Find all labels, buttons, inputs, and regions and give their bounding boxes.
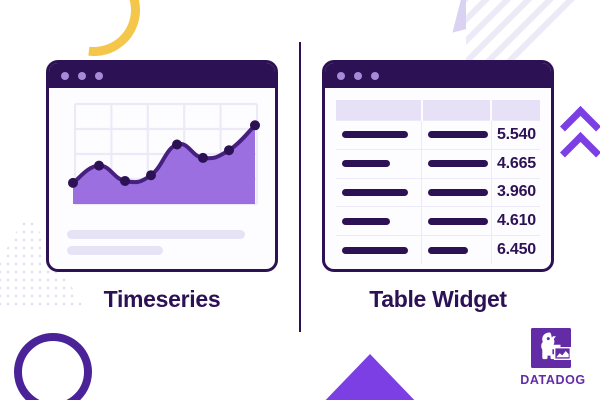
table-cell-value: 6.450	[491, 236, 540, 264]
timeseries-widget-window	[46, 60, 278, 272]
center-divider	[299, 42, 301, 332]
table-row[interactable]: 3.960	[336, 178, 540, 207]
table-body: 5.5404.6653.9604.6106.450	[336, 121, 540, 265]
chart-data-point	[94, 161, 104, 171]
table-cell-value: 4.610	[491, 207, 540, 236]
illustration-canvas: 5.5404.6653.9604.6106.450 Timeseries Tab…	[0, 0, 600, 400]
window-dot-icon	[371, 72, 379, 80]
placeholder-pill	[342, 218, 390, 225]
table-cell-value: 5.540	[491, 121, 540, 150]
placeholder-pill	[428, 131, 488, 138]
chart-data-point	[120, 176, 130, 186]
table-cell-value: 3.960	[491, 178, 540, 207]
window-dot-icon	[78, 72, 86, 80]
timeseries-chart-svg	[67, 100, 263, 218]
data-table: 5.5404.6653.9604.6106.450	[336, 100, 540, 264]
window-dot-icon	[354, 72, 362, 80]
chevron-up-icon	[560, 132, 600, 173]
table-widget-window: 5.5404.6653.9604.6106.450	[322, 60, 554, 272]
skeleton-bar	[67, 246, 163, 255]
chevron-group-decoration	[566, 112, 600, 192]
chart-data-point	[250, 120, 260, 130]
table-cell-label	[336, 207, 422, 236]
table-cell-label	[336, 121, 422, 150]
placeholder-pill	[342, 247, 408, 254]
window-dot-icon	[95, 72, 103, 80]
table-area: 5.5404.6653.9604.6106.450	[336, 100, 540, 264]
table-row[interactable]: 4.610	[336, 207, 540, 236]
datadog-logo: DATADOG	[520, 327, 586, 389]
table-row[interactable]: 6.450	[336, 236, 540, 264]
chart-data-point	[68, 178, 78, 188]
table-header-cell	[336, 100, 422, 121]
table-header-row	[336, 100, 540, 121]
table-cell-label	[422, 149, 491, 178]
table-header-cell	[422, 100, 491, 121]
table-header	[336, 100, 540, 121]
placeholder-pill	[428, 189, 488, 196]
timeseries-chart	[67, 100, 263, 218]
table-row[interactable]: 5.540	[336, 121, 540, 150]
table-cell-value: 4.665	[491, 149, 540, 178]
window-dot-icon	[337, 72, 345, 80]
window-dot-icon	[61, 72, 69, 80]
placeholder-pill	[428, 247, 468, 254]
window-titlebar	[325, 63, 551, 88]
table-widget-caption: Table Widget	[322, 286, 554, 313]
timeseries-window-body	[49, 88, 275, 269]
datadog-dog-icon	[529, 327, 577, 371]
placeholder-pill	[428, 160, 488, 167]
placeholder-pill	[342, 189, 408, 196]
chart-data-point	[224, 145, 234, 155]
placeholder-pill	[342, 160, 390, 167]
skeleton-bar	[67, 230, 245, 239]
purple-ring-decoration	[14, 333, 92, 400]
chart-data-point	[172, 139, 182, 149]
timeseries-caption: Timeseries	[46, 286, 278, 313]
datadog-wordmark: DATADOG	[520, 373, 586, 387]
table-cell-label	[336, 149, 422, 178]
table-cell-label	[422, 178, 491, 207]
table-cell-label	[336, 236, 422, 264]
purple-triangle-decoration	[318, 354, 422, 400]
placeholder-pill	[342, 131, 408, 138]
table-window-body: 5.5404.6653.9604.6106.450	[325, 88, 551, 269]
table-cell-label	[422, 236, 491, 264]
placeholder-pill	[428, 218, 488, 225]
table-header-cell	[491, 100, 540, 121]
chart-data-point	[146, 170, 156, 180]
table-cell-label	[422, 121, 491, 150]
window-titlebar	[49, 63, 275, 88]
table-row[interactable]: 4.665	[336, 149, 540, 178]
table-cell-label	[336, 178, 422, 207]
chart-data-point	[198, 153, 208, 163]
table-cell-label	[422, 207, 491, 236]
